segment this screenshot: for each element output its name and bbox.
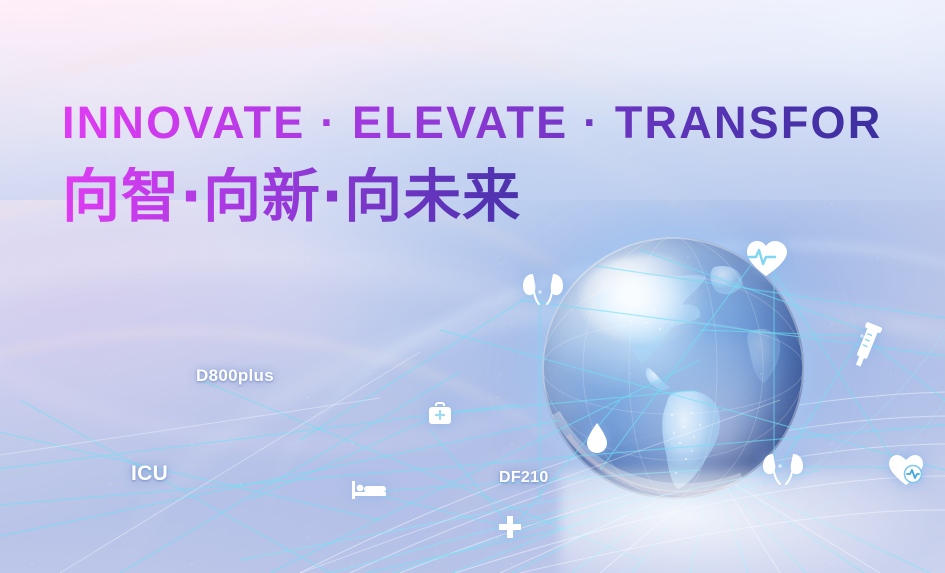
kidneys-icon — [521, 270, 565, 310]
kidneys-icon — [762, 452, 804, 488]
headline-english: INNOVATE · ELEVATE · TRANSFORM — [62, 100, 922, 145]
headline-block: INNOVATE · ELEVATE · TRANSFORM 向智·向新·向未来 — [62, 100, 922, 225]
headline-chinese: 向智·向新·向未来 — [62, 167, 922, 225]
medical-cross-icon — [499, 516, 521, 538]
medical-bag-icon — [428, 402, 452, 426]
label-d800plus: D800plus — [196, 366, 274, 386]
heart-pulse-icon — [745, 240, 787, 278]
hospital-bed-icon — [352, 480, 386, 500]
label-df210: DF210 — [499, 469, 549, 487]
label-icu: ICU — [131, 462, 168, 486]
heart-pulse-circle-icon — [888, 454, 924, 486]
water-drop-icon — [585, 422, 609, 454]
syringe-icon — [852, 320, 880, 370]
hero-banner: D800plus ICU DF210 INNOVATE · ELEVATE · … — [0, 0, 945, 573]
